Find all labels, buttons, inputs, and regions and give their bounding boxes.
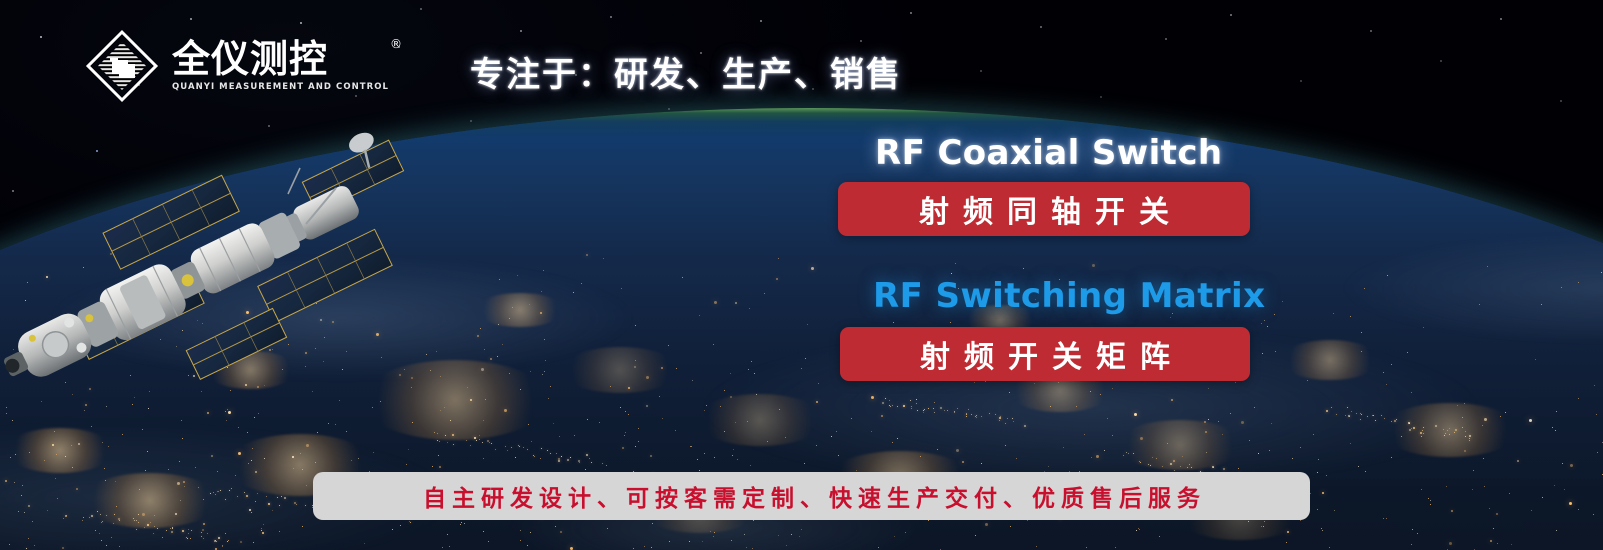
- product-title-en-rf-coaxial-switch: RF Coaxial Switch: [875, 133, 1222, 173]
- registered-trademark-icon: ®: [390, 38, 403, 51]
- logo-company-name-cn-text: 全仪测控: [172, 37, 328, 81]
- space-station-illustration: [48, 128, 428, 383]
- logo-text-block: 全仪测控® QUANYI MEASUREMENT AND CONTROL: [172, 40, 389, 93]
- logo-company-name-en: QUANYI MEASUREMENT AND CONTROL: [172, 82, 389, 92]
- company-logo[interactable]: 全仪测控® QUANYI MEASUREMENT AND CONTROL: [84, 28, 389, 104]
- product-banner-rf-switching-matrix[interactable]: 射频开关矩阵: [840, 327, 1250, 381]
- feature-highlight-bar: 自主研发设计、可按客需定制、快速生产交付、优质售后服务: [313, 472, 1310, 520]
- hero-banner: 全仪测控® QUANYI MEASUREMENT AND CONTROL 专注于…: [0, 0, 1603, 550]
- diamond-emblem-icon: [84, 28, 160, 104]
- page-title: 专注于：研发、生产、销售: [470, 47, 902, 96]
- product-banner-rf-coaxial-switch[interactable]: 射频同轴开关: [838, 182, 1250, 236]
- star-field: [0, 0, 2, 2]
- product-title-en-rf-switching-matrix: RF Switching Matrix: [873, 276, 1265, 316]
- logo-company-name-cn: 全仪测控®: [172, 40, 389, 80]
